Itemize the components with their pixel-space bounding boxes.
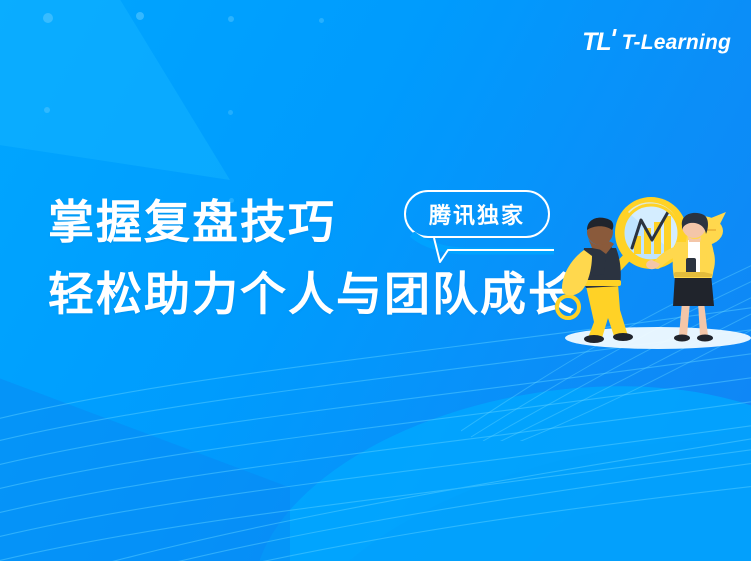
decor-dot [136,12,144,20]
bottom-right-band-3 [464,350,751,561]
decor-dot [43,13,53,23]
bottom-left-wedge-shape [0,345,290,561]
decor-dot [319,18,324,23]
bottom-right-band-2 [241,382,751,561]
decor-dot [228,16,234,22]
decor-dot [44,107,50,113]
headline-line-2-row: 轻松助力个人与团队成长 [48,258,607,330]
top-left-wedge-shape [0,0,230,180]
small-yellow-ring-icon [557,296,579,318]
bottom-right-band-1 [228,345,751,561]
tl-monogram-icon: TL [582,30,615,55]
promo-banner: TL T-Learning 掌握复盘技巧 轻松助力个人与团队成长 腾讯独家 [0,0,751,561]
decor-dot [228,110,233,115]
exclusive-badge-label: 腾讯独家 [429,198,525,230]
brand-logo[interactable]: TL T-Learning [582,30,731,55]
exclusive-badge: 腾讯独家 [404,190,550,238]
speech-bubble-tail-icon [404,232,554,268]
logo-tick-icon [612,29,616,36]
hero-illustration [548,190,751,360]
brand-logo-text: T-Learning [622,32,731,53]
headline-line-2: 轻松助力个人与团队成长 [48,258,576,330]
logo-mark-text: TL [582,28,611,56]
